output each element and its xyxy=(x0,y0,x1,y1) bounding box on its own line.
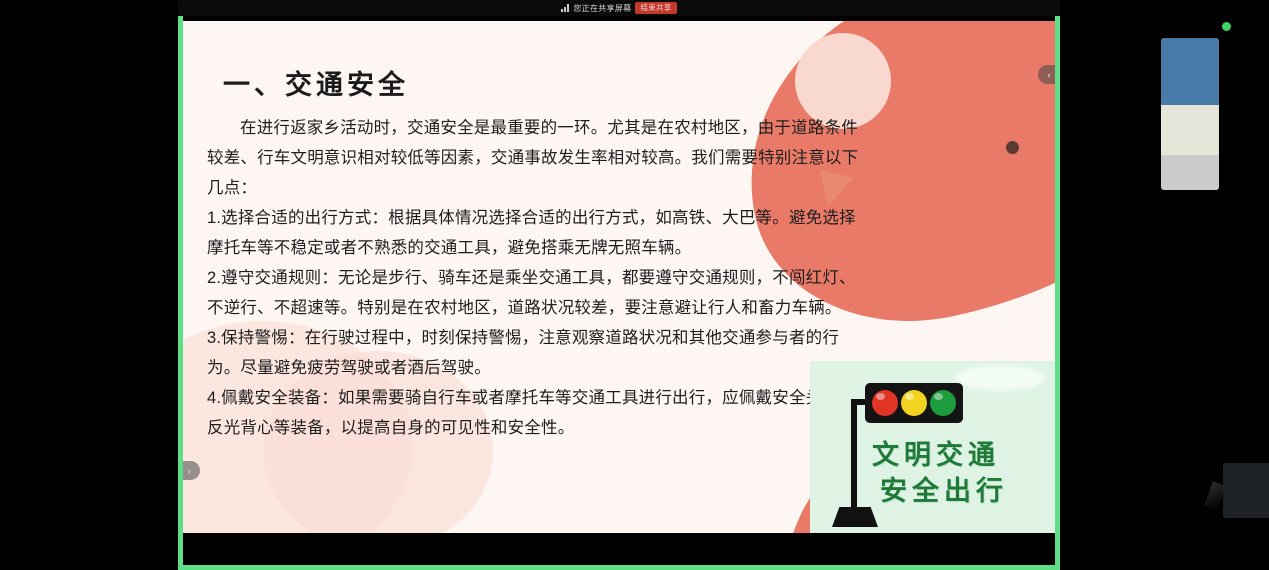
presentation-slide: 一、交通安全 在进行返家乡活动时，交通安全是最重要的一环。尤其是在农村地区，由于… xyxy=(183,21,1055,533)
thumbnail-band-grey xyxy=(1161,155,1219,190)
slide-paragraph-item-1: 1.选择合适的出行方式：根据具体情况选择合适的出行方式，如高铁、大巴等。避免选择… xyxy=(207,203,869,263)
dark-dot-decor xyxy=(1006,141,1019,154)
traffic-safety-illustration: 文明交通 安全出行 xyxy=(810,361,1055,533)
participant-rail xyxy=(1060,0,1269,570)
participant-video-thumbnail[interactable] xyxy=(1161,38,1219,190)
traffic-slogan-line1: 文明交通 xyxy=(872,433,1000,472)
screen-root: 您正在共享屏幕 结束共享 一、交通安全 在进行返家乡活动时，交通安全是最重要的一… xyxy=(0,0,1269,570)
traffic-light-green-icon xyxy=(930,390,956,416)
screen-share-toolbar: 您正在共享屏幕 结束共享 xyxy=(178,0,1060,16)
left-black-gutter xyxy=(0,0,178,570)
end-share-button[interactable]: 结束共享 xyxy=(635,2,676,15)
traffic-slogan-line2: 安全出行 xyxy=(880,469,1008,508)
secondary-video-thumbnail[interactable] xyxy=(1223,463,1269,518)
signal-bars-icon xyxy=(561,4,569,12)
traffic-light-red-icon xyxy=(872,390,898,416)
thumbnail-band-cream xyxy=(1161,105,1219,155)
traffic-light-housing xyxy=(865,383,963,423)
traffic-light-pole xyxy=(851,399,857,511)
slide-paragraph-intro: 在进行返家乡活动时，交通安全是最重要的一环。尤其是在农村地区，由于道路条件较差、… xyxy=(207,113,869,203)
slide-paragraph-item-4: 4.佩戴安全装备：如果需要骑自行车或者摩托车等交通工具进行出行，应佩戴安全头盔、… xyxy=(207,383,869,443)
share-status-text: 您正在共享屏幕 xyxy=(573,3,631,14)
traffic-light-base xyxy=(832,507,878,527)
online-status-dot xyxy=(1222,22,1231,31)
slide-title: 一、交通安全 xyxy=(223,63,409,102)
slide-next-button[interactable]: ‹ xyxy=(1038,65,1055,84)
slide-body-text: 在进行返家乡活动时，交通安全是最重要的一环。尤其是在农村地区，由于道路条件较差、… xyxy=(207,113,869,443)
traffic-light-yellow-icon xyxy=(901,390,927,416)
slide-paragraph-item-2: 2.遵守交通规则：无论是步行、骑车还是乘坐交通工具，都要遵守交通规则，不闯红灯、… xyxy=(207,263,869,323)
cloud-decor xyxy=(955,365,1045,391)
slide-prev-button[interactable]: › xyxy=(183,461,200,480)
slide-paragraph-item-3: 3.保持警惕：在行驶过程中，时刻保持警惕，注意观察道路状况和其他交通参与者的行为… xyxy=(207,323,869,383)
thumbnail-band-blue xyxy=(1161,38,1219,105)
